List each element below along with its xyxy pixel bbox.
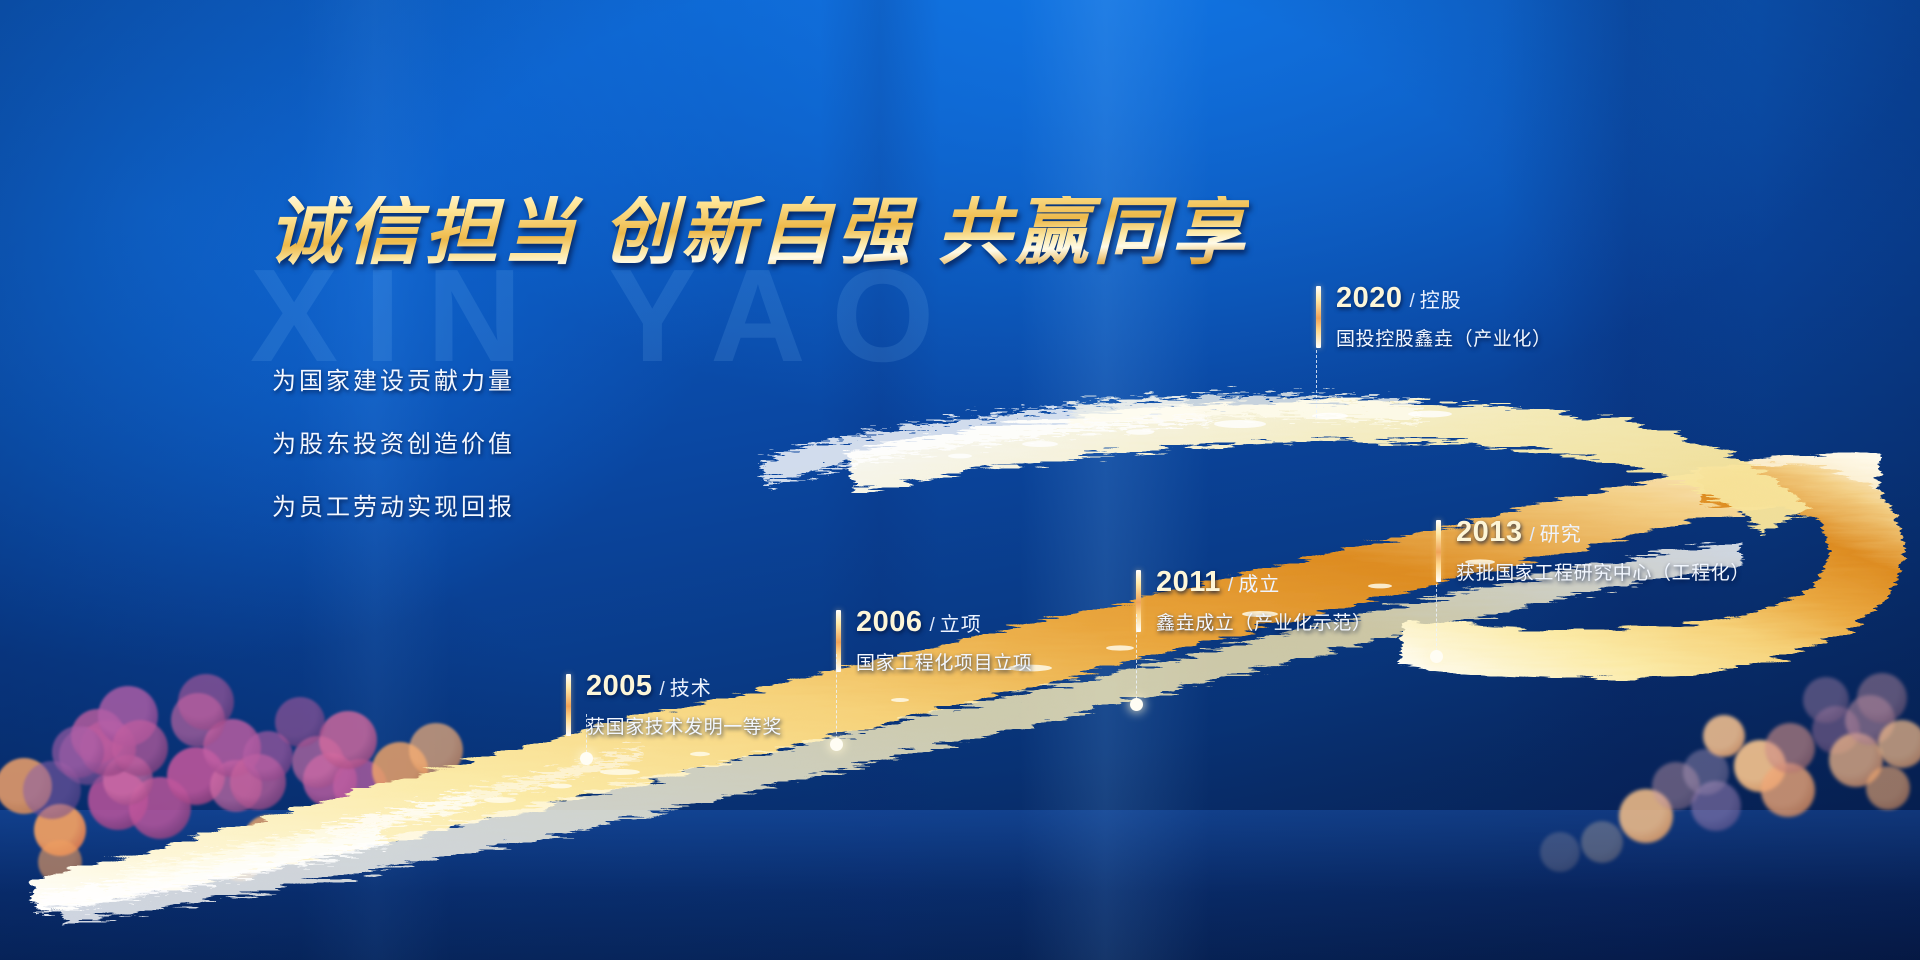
milestone-dot xyxy=(1430,650,1443,663)
milestone-description: 获国家技术发明一等奖 xyxy=(586,712,782,739)
milestone-dot xyxy=(830,738,843,751)
milestone-year-row: 2006/立项 xyxy=(856,608,982,637)
milestone-year-row: 2013/研究 xyxy=(1456,518,1582,547)
milestone-year-row: 2011/成立 xyxy=(1156,568,1280,597)
milestone-description: 获批国家工程研究中心（工程化） xyxy=(1456,558,1750,585)
milestone-description: 国家工程化项目立项 xyxy=(856,648,1032,675)
milestone-leader-line xyxy=(836,654,837,744)
banner-stage: XIN YAO 诚信担当 创新自强 共赢同享 为国家建设贡献力量 为股东投资创造… xyxy=(0,0,1920,960)
subtitle-line-3: 为员工劳动实现回报 xyxy=(272,487,515,522)
milestone-accent-bar xyxy=(1436,520,1441,582)
background-floor-glow xyxy=(0,810,1920,960)
milestone-tag: 技术 xyxy=(670,678,712,700)
milestone-year: 2006 xyxy=(856,606,923,638)
milestone-separator: / xyxy=(1530,525,1535,546)
page-title: 诚信担当 创新自强 共赢同享 xyxy=(268,196,1249,270)
milestone-year: 2011 xyxy=(1156,566,1221,598)
milestone-separator: / xyxy=(930,615,935,636)
milestone-accent-bar xyxy=(566,674,571,736)
milestone-year: 2013 xyxy=(1456,516,1523,548)
milestone-year-row: 2005/技术 xyxy=(586,672,712,701)
milestone-year: 2005 xyxy=(586,670,653,702)
milestone-tag: 立项 xyxy=(940,614,982,636)
milestone-separator: / xyxy=(1228,575,1233,596)
milestone-tag: 成立 xyxy=(1238,574,1280,596)
milestone-year: 2020 xyxy=(1336,282,1403,314)
milestone-leader-line xyxy=(1436,584,1437,656)
milestone-tag: 研究 xyxy=(1540,524,1582,546)
milestone-leader-line xyxy=(1136,614,1137,704)
milestone-dot xyxy=(580,752,593,765)
subtitle-line-2: 为股东投资创造价值 xyxy=(272,424,515,459)
milestone-accent-bar xyxy=(1316,286,1321,348)
milestone-separator: / xyxy=(660,679,665,700)
milestone-description: 鑫垚成立（产业化示范） xyxy=(1156,608,1372,635)
milestone-separator: / xyxy=(1410,291,1415,312)
milestone-year-row: 2020/控股 xyxy=(1336,284,1462,313)
subtitle-line-1: 为国家建设贡献力量 xyxy=(272,361,515,396)
milestone-description: 国投控股鑫垚（产业化） xyxy=(1336,324,1552,351)
milestone-tag: 控股 xyxy=(1420,290,1462,312)
milestone-leader-line xyxy=(1316,350,1317,418)
milestone-dot xyxy=(1130,698,1143,711)
